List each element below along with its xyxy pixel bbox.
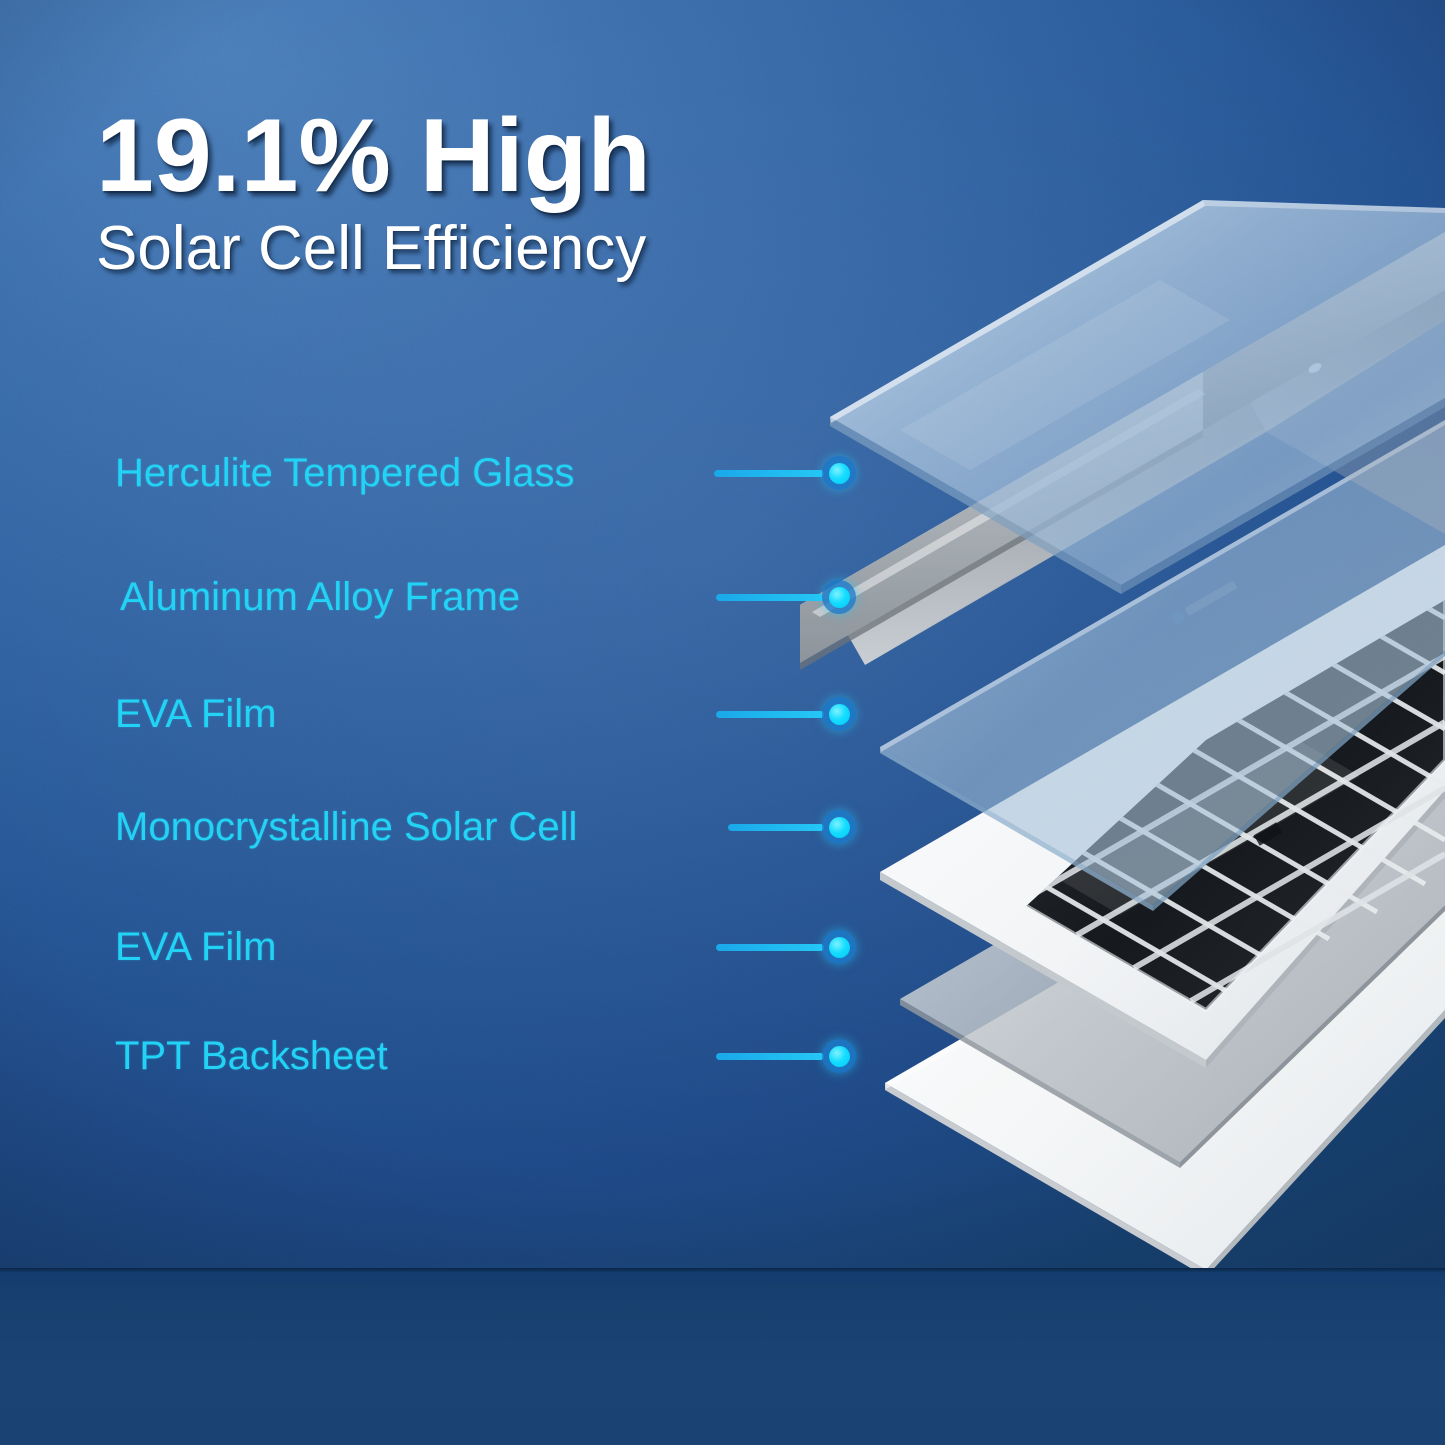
callout-leader-line (728, 824, 824, 831)
callout-marker-dot[interactable] (822, 697, 856, 731)
callout-label: Herculite Tempered Glass (115, 453, 574, 493)
callout-marker-core (829, 937, 850, 958)
callout-leader-line (716, 594, 824, 601)
callout-marker-dot[interactable] (822, 580, 856, 614)
callout-5[interactable]: EVA Film (115, 917, 277, 977)
callout-marker-core (829, 817, 850, 838)
callout-label: EVA Film (115, 694, 277, 734)
headline-block: 19.1% High Solar Cell Efficiency (96, 104, 856, 281)
callout-marker-core (829, 587, 850, 608)
callout-label: Aluminum Alloy Frame (120, 577, 520, 617)
callout-leader-line (716, 711, 824, 718)
callout-marker-core (829, 463, 850, 484)
callout-4[interactable]: Monocrystalline Solar Cell (115, 797, 577, 857)
callout-3[interactable]: EVA Film (115, 684, 277, 744)
callout-leader-line (716, 944, 824, 951)
callout-2[interactable]: Aluminum Alloy Frame (120, 567, 520, 627)
callout-label: EVA Film (115, 927, 277, 967)
callout-marker-core (829, 1046, 850, 1067)
page-subtitle: Solar Cell Efficiency (96, 216, 856, 281)
callout-label: TPT Backsheet (115, 1036, 388, 1076)
callout-marker-dot[interactable] (822, 1039, 856, 1073)
product-infographic: 19.1% High Solar Cell Efficiency Herculi… (0, 0, 1445, 1445)
callout-marker-core (829, 704, 850, 725)
page-title: 19.1% High (96, 104, 856, 208)
bottom-band (0, 1268, 1445, 1445)
callout-6[interactable]: TPT Backsheet (115, 1026, 388, 1086)
callout-leader-line (714, 470, 824, 477)
callout-label: Monocrystalline Solar Cell (115, 807, 577, 847)
callout-marker-dot[interactable] (822, 930, 856, 964)
callout-1[interactable]: Herculite Tempered Glass (115, 443, 574, 503)
callout-marker-dot[interactable] (822, 456, 856, 490)
callout-marker-dot[interactable] (822, 810, 856, 844)
callout-leader-line (716, 1053, 824, 1060)
